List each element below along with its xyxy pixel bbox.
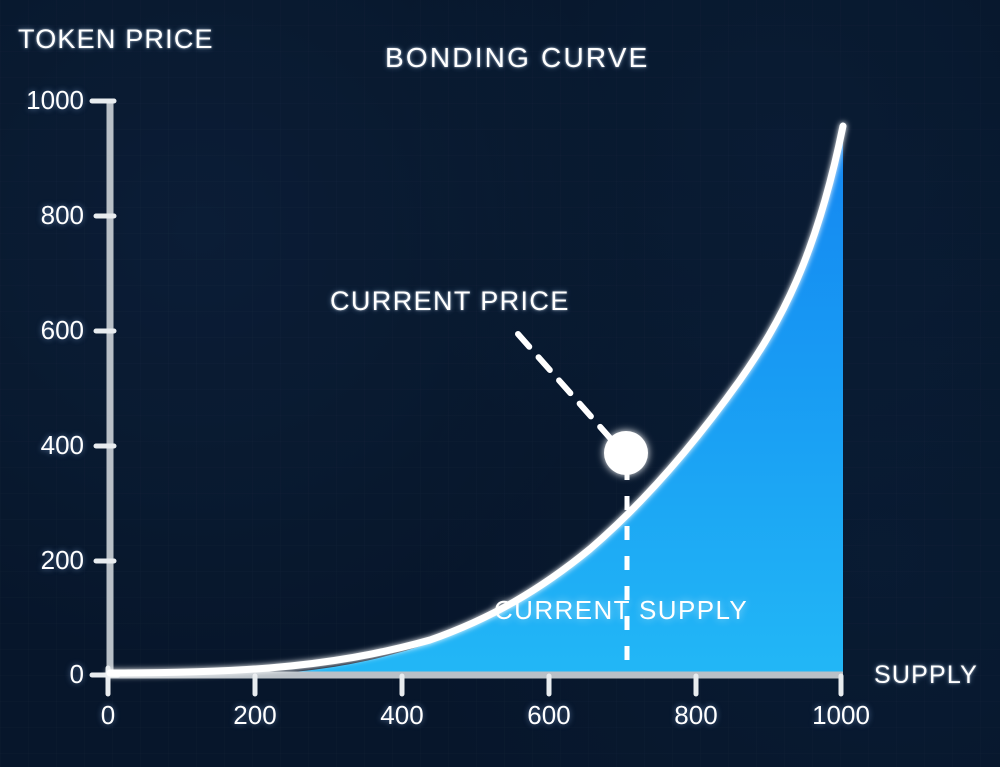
current-price-leader-line xyxy=(518,334,618,447)
y-axis-ticks xyxy=(92,101,118,675)
x-tick-label: 0 xyxy=(68,700,148,731)
x-tick-label: 1000 xyxy=(796,700,886,731)
x-axis-title: SUPPLY xyxy=(874,661,978,690)
x-tick-label: 800 xyxy=(656,700,736,731)
x-tick-label: 400 xyxy=(362,700,442,731)
y-tick-label: 600 xyxy=(2,315,84,346)
chart-canvas xyxy=(0,0,1000,767)
y-tick-label: 1000 xyxy=(2,85,84,116)
current-price-label: CURRENT PRICE xyxy=(330,286,570,317)
x-tick-label: 200 xyxy=(215,700,295,731)
chart-title: BONDING CURVE xyxy=(385,42,650,74)
x-tick-label: 600 xyxy=(509,700,589,731)
y-tick-label: 800 xyxy=(2,200,84,231)
current-supply-label: CURRENT SUPPLY xyxy=(494,595,748,626)
bonding-curve-chart: TOKEN PRICE BONDING CURVE SUPPLY CURRENT… xyxy=(0,0,1000,767)
current-price-marker[interactable] xyxy=(604,431,648,475)
y-axis-title: TOKEN PRICE xyxy=(18,24,214,55)
y-tick-label: 400 xyxy=(2,430,84,461)
y-tick-label: 200 xyxy=(2,545,84,576)
y-tick-label: 0 xyxy=(2,659,84,690)
area-fill-current-supply xyxy=(269,126,843,674)
